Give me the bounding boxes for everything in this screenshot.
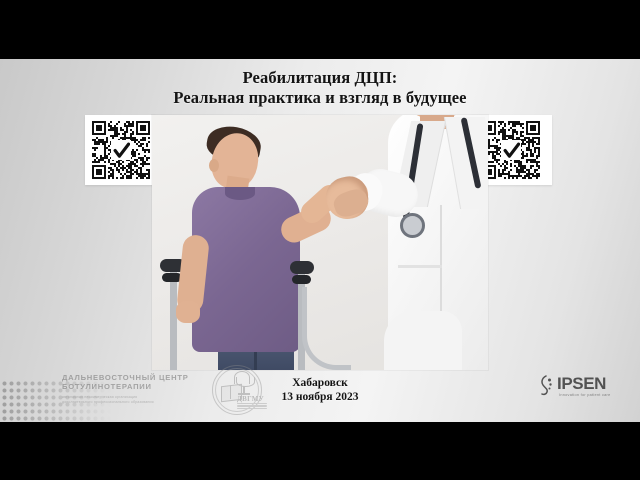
title-line-1: Реабилитация ДЦП: bbox=[0, 68, 640, 88]
slide-photo bbox=[152, 115, 488, 370]
boy-collar bbox=[225, 187, 255, 200]
qr-right-check-icon bbox=[501, 140, 521, 160]
stethoscope-bell-icon bbox=[400, 213, 425, 238]
presentation-slide: Реабилитация ДЦП: Реальная практика и вз… bbox=[0, 59, 640, 422]
title-line-2: Реальная практика и взгляд в будущее bbox=[0, 88, 640, 108]
walker-frame bbox=[302, 287, 351, 370]
doctor-coat-pocket bbox=[398, 265, 442, 268]
crutch-right-cuff bbox=[290, 261, 314, 274]
qr-code-left[interactable] bbox=[85, 115, 157, 185]
seal-caption-lines bbox=[237, 403, 267, 410]
crutch-right-grip bbox=[292, 275, 311, 284]
slide-screenshot: Реабилитация ДЦП: Реальная практика и вз… bbox=[0, 0, 640, 480]
ipsen-wordmark: IPSEN bbox=[557, 374, 606, 393]
letterbox-top bbox=[0, 0, 640, 59]
ipsen-mark-icon bbox=[537, 375, 554, 397]
boy-tshirt bbox=[192, 187, 300, 352]
slide-title: Реабилитация ДЦП: Реальная практика и вз… bbox=[0, 68, 640, 108]
qr-left-check-icon bbox=[111, 140, 131, 160]
boy-ear bbox=[209, 159, 219, 172]
ipsen-tagline: Innovation for patient care bbox=[559, 393, 610, 397]
boy-left-hand bbox=[176, 301, 200, 323]
slide-footer: ДАЛЬНЕВОСТОЧНЫЙ ЦЕНТР БОТУЛИНОТЕРАПИИ ав… bbox=[0, 359, 640, 422]
letterbox-bottom bbox=[0, 422, 640, 480]
